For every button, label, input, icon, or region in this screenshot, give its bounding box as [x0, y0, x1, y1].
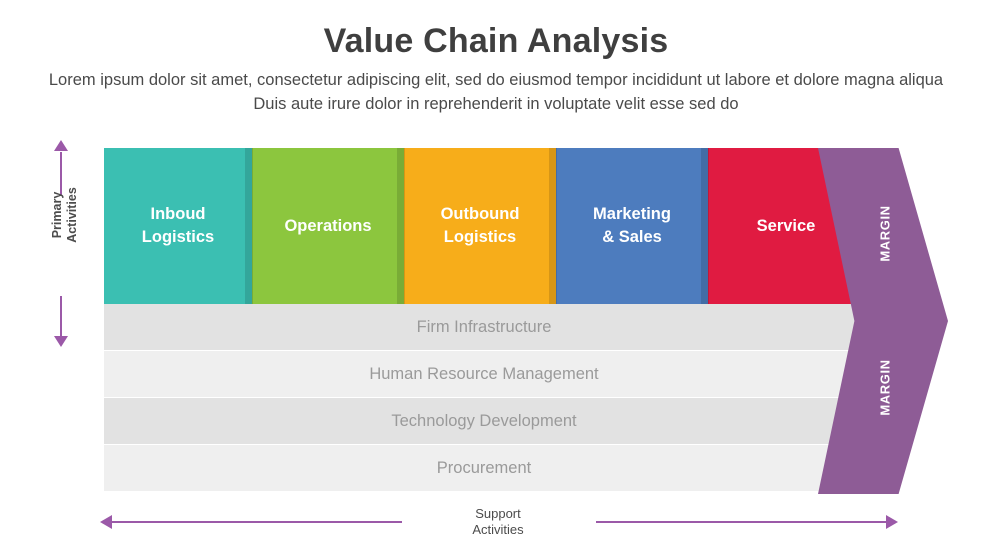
margin-label-bottom: MARGIN [878, 343, 893, 433]
cell-shadow-notch [245, 148, 253, 304]
primary-activities-axis: Primary Activities [42, 148, 88, 344]
support-activity-row[interactable]: Technology Development [104, 398, 864, 444]
support-activity-row[interactable]: Procurement [104, 445, 864, 491]
arrow-left-icon [100, 515, 112, 529]
value-chain-body: InboudLogistics Operations OutboundLogis… [104, 148, 864, 494]
axis-line-left [112, 521, 402, 523]
support-activity-label: Technology Development [391, 412, 576, 431]
primary-activities-label: Primary Activities [50, 173, 80, 257]
support-activities-axis: SupportActivities [0, 498, 992, 554]
margin-label-top: MARGIN [878, 189, 893, 279]
arrow-down-icon [54, 336, 68, 347]
diagram-canvas: Value Chain Analysis Lorem ipsum dolor s… [0, 0, 992, 558]
arrow-up-icon [54, 140, 68, 151]
cell-shadow-notch [397, 148, 405, 304]
axis-line-right [596, 521, 886, 523]
page-subtitle: Lorem ipsum dolor sit amet, consectetur … [44, 68, 948, 116]
support-activity-label: Human Resource Management [369, 365, 598, 384]
primary-activity-label: OutboundLogistics [435, 203, 526, 249]
support-activity-label: Procurement [437, 459, 531, 478]
arrow-right-icon [886, 515, 898, 529]
primary-activity-cell[interactable]: Operations [252, 148, 404, 304]
cell-shadow-notch [549, 148, 557, 304]
support-activity-label: Firm Infrastructure [417, 318, 552, 337]
support-activity-row[interactable]: Human Resource Management [104, 351, 864, 397]
primary-activity-label: Service [751, 215, 822, 238]
primary-activity-cell[interactable]: Marketing& Sales [556, 148, 708, 304]
support-activities-label: SupportActivities [406, 506, 590, 538]
cell-shadow-notch [701, 148, 709, 304]
axis-line-down [60, 296, 62, 340]
primary-activity-cell[interactable]: OutboundLogistics [404, 148, 556, 304]
primary-activity-label: Operations [278, 215, 377, 238]
support-activity-row[interactable]: Firm Infrastructure [104, 304, 864, 350]
primary-activity-label: InboudLogistics [136, 203, 220, 249]
primary-activities-row: InboudLogistics Operations OutboundLogis… [104, 148, 864, 304]
support-activities-rows: Firm Infrastructure Human Resource Manag… [104, 304, 864, 494]
primary-activity-cell[interactable]: InboudLogistics [104, 148, 252, 304]
page-title: Value Chain Analysis [0, 22, 992, 61]
primary-activity-label: Marketing& Sales [587, 203, 677, 249]
